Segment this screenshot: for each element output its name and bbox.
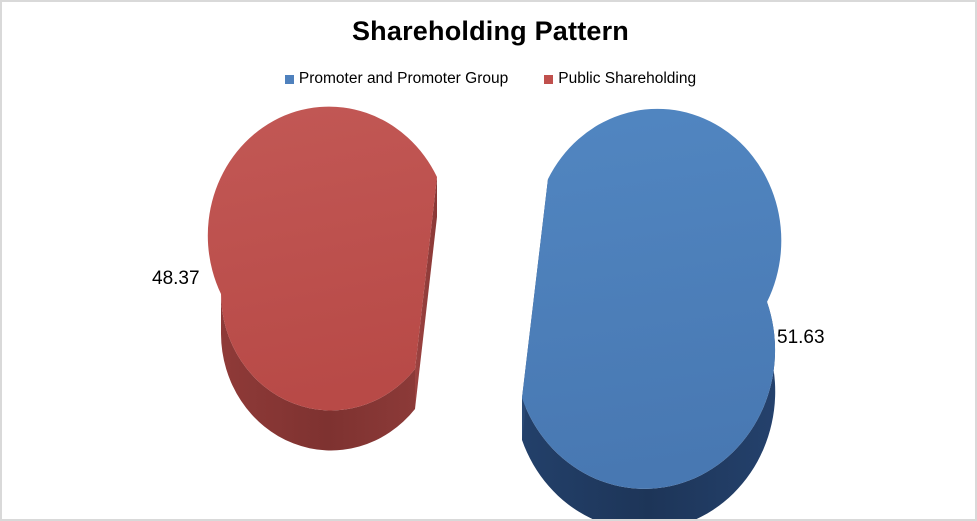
data-label-public-shareholding: 48.37 (152, 268, 200, 290)
data-label-promoter-group: 51.63 (777, 327, 825, 349)
chart-container: Shareholding Pattern Promoter and Promot… (0, 0, 977, 521)
pie-slice-promoter-top (522, 109, 781, 489)
pie-slice-public-shareholding[interactable] (208, 107, 437, 451)
pie-plot-area (2, 2, 977, 521)
pie-slice-promoter-group[interactable] (522, 109, 781, 521)
